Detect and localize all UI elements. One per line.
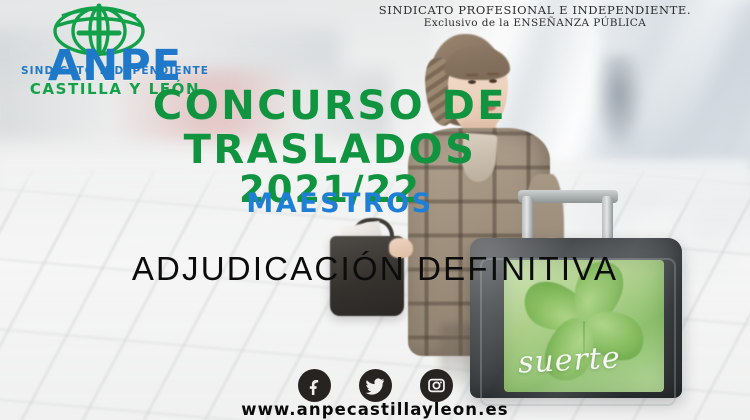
facebook-button[interactable] <box>298 369 331 402</box>
tagline-line-2: Exclusivo de la ENSEÑANZA PÚBLICA <box>330 17 740 30</box>
headline-line-1: CONCURSO DE <box>0 88 660 126</box>
tagline-line-1: SINDICATO PROFESIONAL E INDEPENDIENTE. <box>330 3 740 17</box>
headline-subtitle: MAESTROS <box>0 188 680 219</box>
twitter-icon <box>365 376 385 396</box>
social-links <box>0 369 750 402</box>
website-url[interactable]: www.anpecastillayleon.es <box>0 400 750 419</box>
poster-canvas: suerte ANPE SINDICATO INDE <box>0 0 750 420</box>
woman-eyebrow-right <box>487 73 499 75</box>
facebook-icon <box>305 376 324 395</box>
headline-line-2: TRASLADOS <box>0 132 660 170</box>
twitter-button[interactable] <box>359 369 392 402</box>
banner-text: ADJUDICACIÓN DEFINITIVA <box>0 250 750 288</box>
instagram-icon <box>427 376 446 395</box>
instagram-button[interactable] <box>420 369 453 402</box>
header-tagline: SINDICATO PROFESIONAL E INDEPENDIENTE. E… <box>330 3 740 31</box>
woman-eyebrow-left <box>466 74 478 76</box>
anpe-logo-subtitle: SINDICATO INDEPENDIENTE <box>10 65 220 77</box>
